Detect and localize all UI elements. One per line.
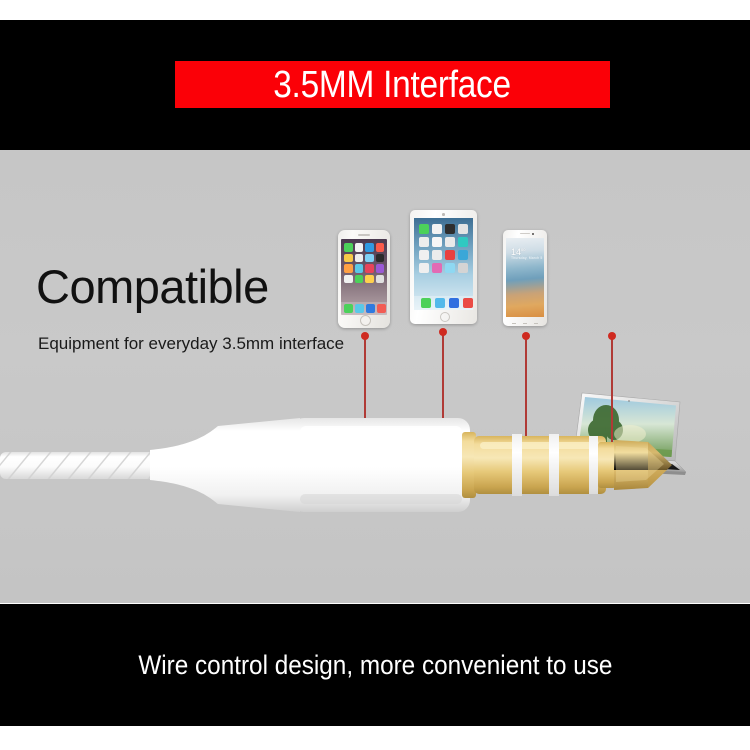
product-marketing-image: 3.5MM Interface Compatible Equipment for…: [0, 0, 750, 750]
footer-caption: Wire control design, more convenient to …: [138, 650, 612, 680]
main-stage: Compatible Equipment for everyday 3.5mm …: [0, 150, 750, 603]
bottom-white-strip: [0, 726, 750, 750]
header-title: 3.5MM Interface: [274, 66, 512, 104]
header-bar: 3.5MM Interface: [0, 20, 750, 150]
product-audio-cable: [0, 150, 750, 603]
header-red-banner: 3.5MM Interface: [175, 61, 610, 108]
footer-bar: Wire control design, more convenient to …: [0, 604, 750, 726]
insulator-ring: [549, 434, 559, 496]
insulator-ring: [589, 436, 598, 494]
top-white-strip: [0, 0, 750, 20]
insulator-ring: [512, 434, 522, 496]
